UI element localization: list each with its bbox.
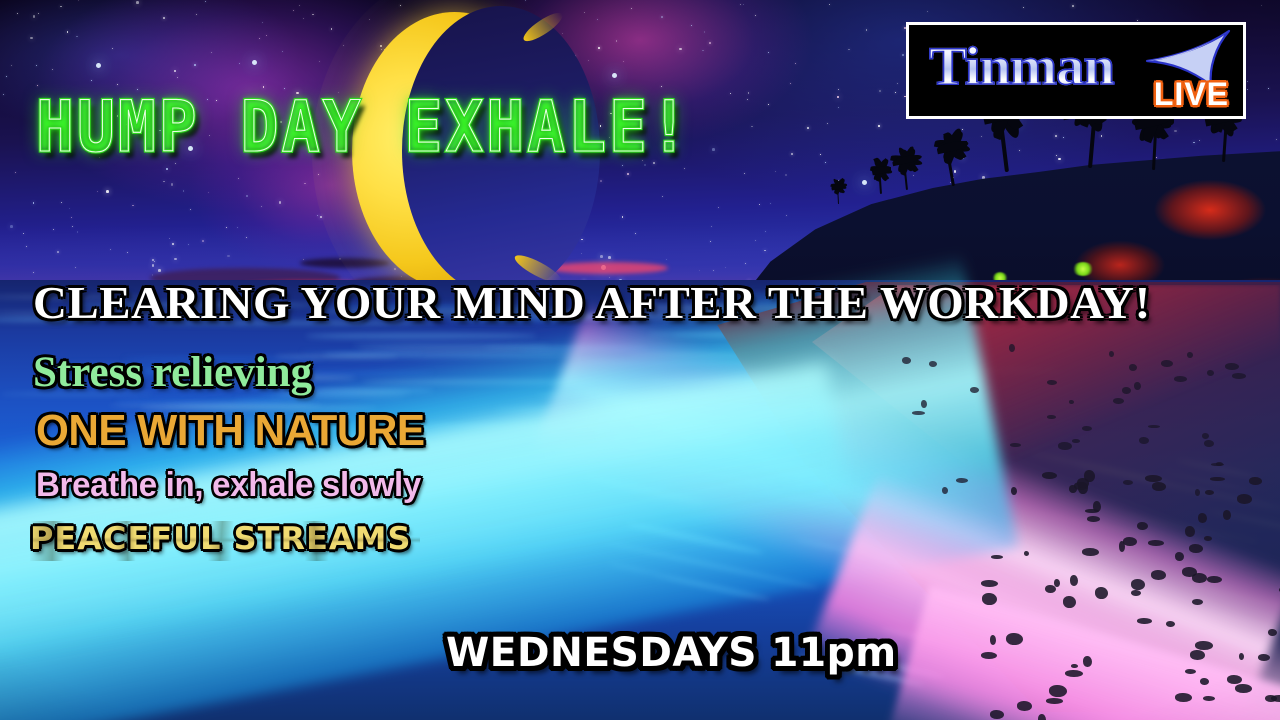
tagline-clearing-your-mind: CLEARING YOUR MIND AFTER THE WORKDAY! [33,276,1151,329]
page-title: HUMP DAY EXHALE! [36,86,691,168]
tagline-one-with-nature: ONE WITH NATURE [36,406,425,456]
logo-live-badge: LIVE [1154,76,1229,113]
logo-wordmark: Tinman [929,35,1114,97]
tinman-live-logo[interactable]: Tinman LIVE [906,22,1246,119]
tagline-peaceful-streams: PEACEFUL STREAMS [30,521,412,557]
thumbnail-canvas: HUMP DAY EXHALE! HUMP DAY EXHALE! CLEARI… [0,0,1280,720]
tagline-stress-relieving: Stress relieving [33,348,312,397]
schedule-text: WEDNESDAYS 11pm [446,630,897,676]
glowing-plant-2 [1072,262,1094,276]
tagline-breathe-in-exhale-slowly: Breathe in, exhale slowly [36,466,421,505]
